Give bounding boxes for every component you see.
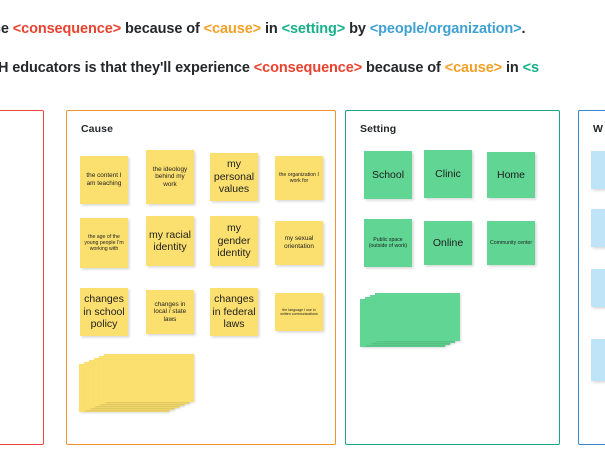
note-cause-7[interactable]: my gender identity [210, 216, 258, 266]
sticky-note-board: Cause the content I am teaching the ideo… [0, 110, 605, 465]
note-setting-clinic[interactable]: Clinic [424, 150, 472, 198]
note-cause-3[interactable]: my personal values [210, 153, 258, 201]
sentence-1-part-0: xperience [0, 21, 13, 37]
note-people-2[interactable] [591, 209, 605, 247]
note-cause-9[interactable]: changes in school policy [80, 288, 128, 336]
sentence-2-part-2: because of [362, 60, 445, 76]
sentence-1-part-4: in [261, 21, 282, 37]
sentence-1-part-2: because of [121, 21, 204, 37]
sentence-1-token-setting: <setting> [282, 21, 346, 37]
sentence-line-1: xperience <consequence> because of <caus… [0, 21, 525, 37]
sentence-2-token-consequence: <consequence> [254, 60, 362, 76]
note-setting-home[interactable]: Home [487, 152, 535, 198]
sentence-1-token-cause: <cause> [204, 21, 261, 37]
sentence-2-token-cause: <cause> [445, 60, 502, 76]
note-cause-10[interactable]: changes in local / state laws [146, 290, 194, 334]
note-cause-2[interactable]: the ideology behind my work [146, 150, 194, 204]
sentence-1-token-people: <people/organization> [370, 21, 522, 37]
note-people-3[interactable] [591, 269, 605, 307]
note-cause-12[interactable]: the language I use in written communicat… [275, 293, 323, 331]
note-cause-1[interactable]: the content I am teaching [80, 156, 128, 204]
sentence-2-part-0: her ASRH educators is that they'll exper… [0, 60, 254, 76]
sentence-1-token-consequence: <consequence> [13, 21, 121, 37]
sentence-1-part-8: . [522, 21, 526, 37]
note-cause-6[interactable]: my racial identity [146, 216, 194, 266]
note-people-1[interactable]: p [591, 151, 605, 189]
sentence-2-token-setting: <s [523, 60, 539, 76]
note-setting-community[interactable]: Community center [487, 221, 535, 265]
note-people-4[interactable] [591, 339, 605, 381]
panel-people-title: W [593, 123, 603, 135]
panel-cause[interactable]: Cause the content I am teaching the ideo… [66, 110, 336, 445]
panel-people-organization[interactable]: W p [578, 110, 605, 445]
sentence-1-part-6: by [345, 21, 370, 37]
panel-cause-title: Cause [81, 123, 113, 135]
sentence-line-2: her ASRH educators is that they'll exper… [0, 60, 539, 76]
panel-setting[interactable]: Setting School Clinic Home Public space … [345, 110, 560, 445]
note-cause-4[interactable]: the organization I work for [275, 156, 323, 200]
panel-setting-title: Setting [360, 123, 396, 135]
sentence-2-part-4: in [502, 60, 523, 76]
note-setting-public-space[interactable]: Public space (outside of work) [364, 219, 412, 267]
note-cause-11[interactable]: changes in federal laws [210, 288, 258, 336]
note-setting-school[interactable]: School [364, 151, 412, 199]
note-cause-5[interactable]: the age of the young people I'm working … [80, 218, 128, 268]
note-cause-8[interactable]: my sexual orientation [275, 221, 323, 265]
sentence-frames: xperience <consequence> because of <caus… [0, 0, 605, 100]
panel-consequence[interactable] [0, 110, 44, 445]
note-setting-online[interactable]: Online [424, 221, 472, 265]
